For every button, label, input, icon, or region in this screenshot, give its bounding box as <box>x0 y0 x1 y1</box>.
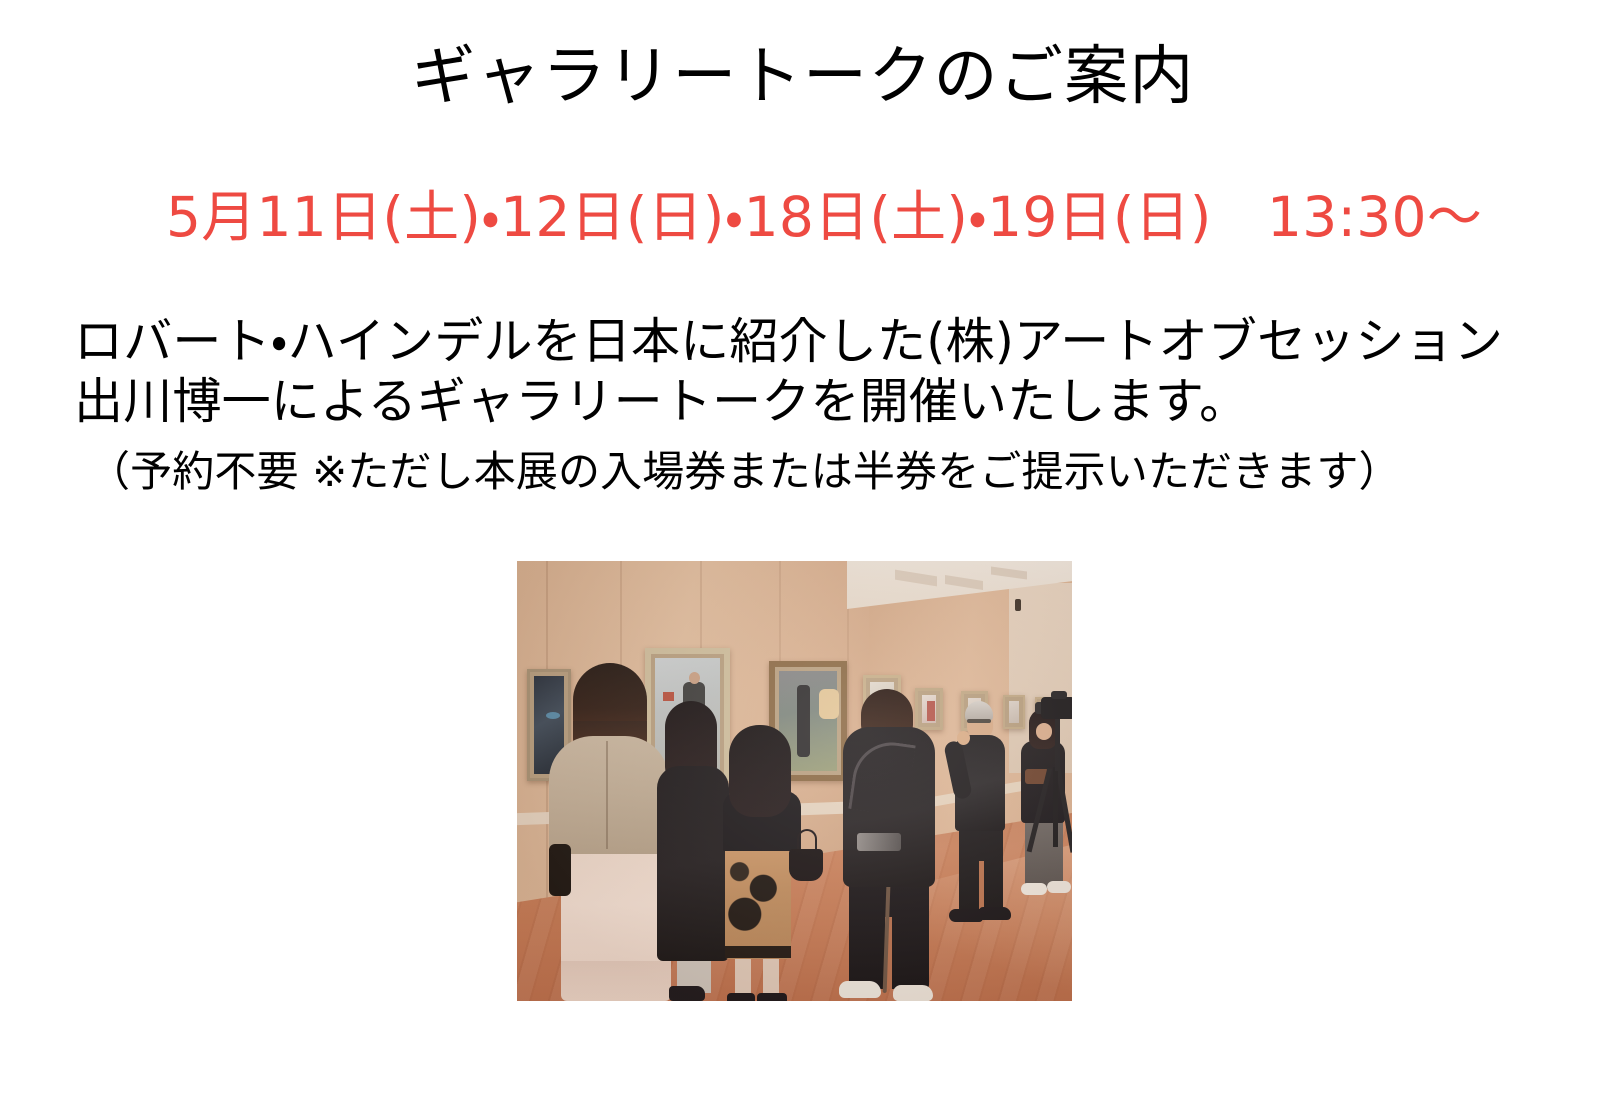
visitor-1-skirt-fold <box>561 961 671 1001</box>
artwork-figure <box>819 689 839 719</box>
visitor-3-hair <box>729 725 791 817</box>
visitor-4-shoe <box>893 985 933 1001</box>
visitor-1-bag <box>549 844 571 896</box>
photo-scene <box>517 561 1072 1001</box>
speaker-shoe <box>979 907 1011 920</box>
video-camera-icon <box>1041 697 1072 719</box>
camera-operator-shoe <box>1021 883 1047 895</box>
visitor-2-coat <box>657 766 729 961</box>
artwork-figure <box>927 701 935 721</box>
event-dateline: 5月11日(土)・12日(日)・18日(土)・19日(日) 13:30〜 <box>166 186 1466 249</box>
visitor-3-shoe <box>727 993 755 1001</box>
camera-operator-shoe <box>1047 881 1071 893</box>
tripod-leg <box>1053 767 1058 847</box>
body-line-1: ロバート・ハインデルを日本に紹介した(株)アートオブセッション <box>74 312 1554 372</box>
reservation-note: （予約不要 ※ただし本展の入場券または半券をご提示いただきます） <box>74 446 1554 498</box>
gallery-talk-photo <box>517 561 1072 1001</box>
poster-page: ギャラリートークのご案内 5月11日(土)・12日(日)・18日(土)・19日(… <box>0 0 1606 1093</box>
speaker-glasses-icon <box>967 719 991 723</box>
camera-hood <box>1051 691 1067 699</box>
track-light-icon <box>1015 599 1021 611</box>
speaker-shoe <box>949 909 983 922</box>
body-line-2: 出川博一によるギャラリートークを開催いたします。 <box>74 372 1554 432</box>
artwork-canvas <box>1009 701 1019 723</box>
artwork-figure-head <box>689 672 700 684</box>
visitor-2-shoe <box>669 986 705 1001</box>
visitor-3-paisley-skirt <box>725 841 791 959</box>
page-title: ギャラリートークのご案内 <box>0 42 1606 112</box>
artwork-detail <box>546 712 560 719</box>
visitor-4-bag-print <box>857 833 901 851</box>
speaker-hair <box>965 701 993 721</box>
visitor-3-shoe <box>757 993 787 1001</box>
body-copy: ロバート・ハインデルを日本に紹介した(株)アートオブセッション 出川博一によるギ… <box>74 312 1554 498</box>
visitor-3-handbag <box>789 849 823 881</box>
camera-operator-face <box>1036 723 1052 740</box>
visitor-1-cardigan-seam <box>606 741 608 849</box>
artwork-5 <box>915 688 943 730</box>
artwork-7 <box>1003 695 1025 729</box>
visitor-1-cardigan <box>549 736 669 854</box>
speaker-hand <box>957 731 970 745</box>
tripod-column <box>1055 719 1060 771</box>
artwork-figure <box>797 685 810 757</box>
artwork-detail <box>663 692 674 701</box>
visitor-4-shoe <box>839 981 881 998</box>
visitor-3-skirt-hem <box>725 946 791 958</box>
